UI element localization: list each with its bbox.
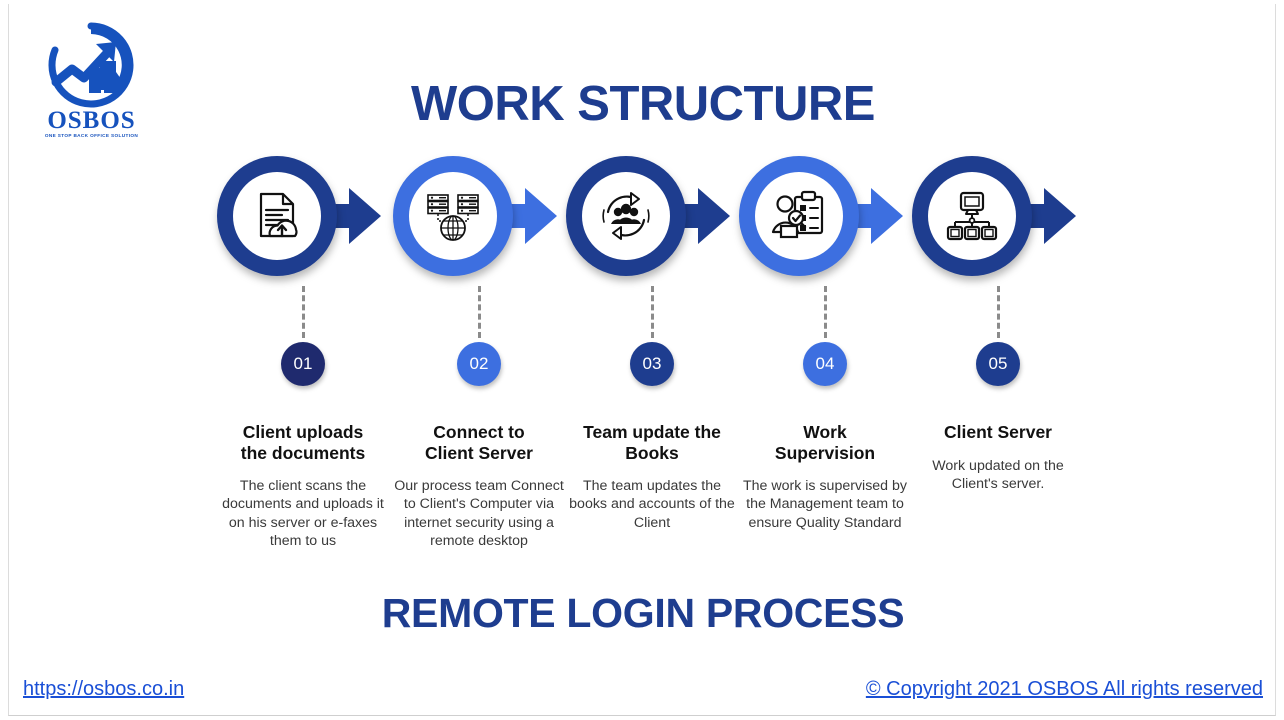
step-3-connector <box>651 286 654 338</box>
step-3-icon-circle <box>566 156 686 276</box>
step-5-icon-circle <box>912 156 1032 276</box>
copyright-link[interactable]: © Copyright 2021 OSBOS All rights reserv… <box>866 678 1263 701</box>
step-1-title-line1: Client uploads <box>243 422 364 442</box>
servers-globe-network-icon <box>425 188 481 244</box>
step-4-connector <box>824 286 827 338</box>
step-5-icon-inner <box>928 172 1016 260</box>
step-1-icon-inner <box>233 172 321 260</box>
step-4-icon-circle <box>739 156 859 276</box>
step-2-icon-inner <box>409 172 497 260</box>
logo-tagline: ONE STOP BACK OFFICE SOLUTION <box>33 133 150 138</box>
step-3-title-line2: Books <box>625 443 678 463</box>
process-steps: 01 Client uploads the documents The clie… <box>9 154 1276 554</box>
bottom-title: REMOTE LOGIN PROCESS <box>9 590 1276 637</box>
step-3-number-badge: 03 <box>630 342 674 386</box>
process-step-5: 05 Client Server Work updated on the Cli… <box>883 154 1113 493</box>
step-2-connector <box>478 286 481 338</box>
slide-canvas: OSBOS ONE STOP BACK OFFICE SOLUTION WORK… <box>8 4 1276 716</box>
client-server-topology-icon <box>944 188 1000 244</box>
step-5-title: Client Server <box>903 422 1093 443</box>
website-link[interactable]: https://osbos.co.in <box>23 678 184 701</box>
step-1-connector <box>302 286 305 338</box>
team-refresh-cycle-icon <box>598 188 654 244</box>
step-1-description: The client scans the documents and uploa… <box>218 477 388 550</box>
step-4-title-line2: Supervision <box>775 443 875 463</box>
step-1-icon-circle <box>217 156 337 276</box>
step-5-title-line1: Client Server <box>944 422 1052 442</box>
step-3-title-line1: Team update the <box>583 422 721 442</box>
step-5-description: Work updated on the Client's server. <box>913 457 1083 493</box>
step-4-number-badge: 04 <box>803 342 847 386</box>
step-2-number-badge: 02 <box>457 342 501 386</box>
step-2-title-line1: Connect to <box>433 422 524 442</box>
step-1-number-badge: 01 <box>281 342 325 386</box>
document-cloud-upload-icon <box>249 188 305 244</box>
step-5-connector <box>997 286 1000 338</box>
step-3-icon-inner <box>582 172 670 260</box>
step-5-number-badge: 05 <box>976 342 1020 386</box>
step-2-title-line2: Client Server <box>425 443 533 463</box>
step-2-icon-circle <box>393 156 513 276</box>
step-1-title-line2: the documents <box>241 443 365 463</box>
supervisor-checklist-icon <box>771 188 827 244</box>
step-4-title-line1: Work <box>803 422 846 442</box>
step-4-icon-inner <box>755 172 843 260</box>
step-5-circle-wrap <box>908 154 1088 280</box>
page-title: WORK STRUCTURE <box>9 76 1276 132</box>
